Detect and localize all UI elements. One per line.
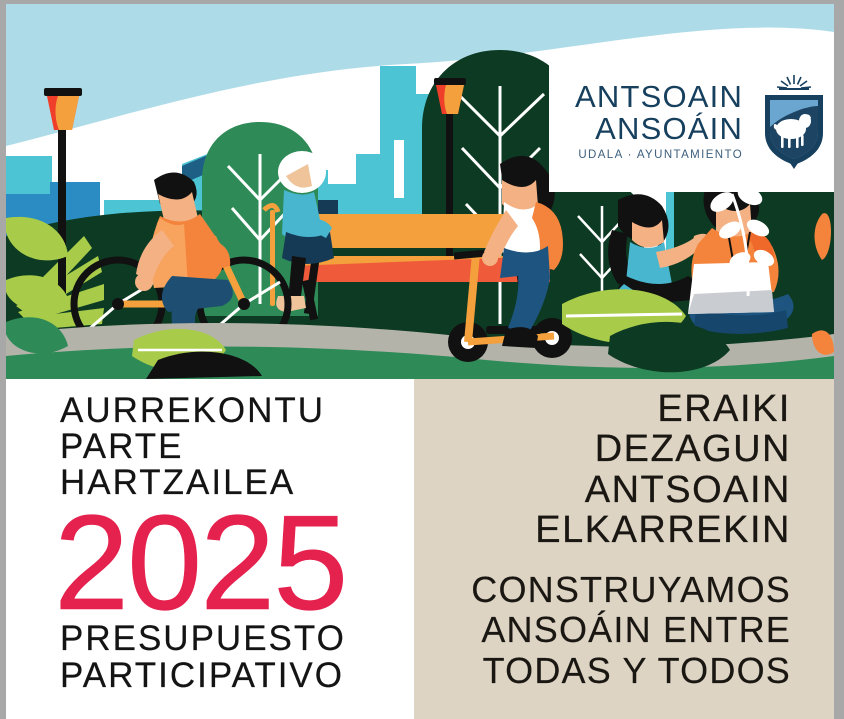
slogan-basque-line-3: ANTSOAIN — [431, 470, 791, 510]
year-2025: 2025 — [54, 509, 400, 617]
bottom-text-area: AURREKONTU PARTE HARTZAILEA 2025 PRESUPU… — [6, 379, 834, 719]
logo-wordmark: ANTSOAIN ANSOÁIN UDALA · AYUNTAMIENTO — [575, 81, 743, 161]
poster-root: ANTSOAIN ANSOÁIN UDALA · AYUNTAMIENTO — [0, 0, 844, 719]
logo-subtitle: UDALA · AYUNTAMIENTO — [578, 149, 743, 161]
antsoain-coat-of-arms-icon — [757, 73, 831, 169]
heading-spanish-line-2: PARTICIPATIVO — [60, 658, 400, 695]
slogan-spanish-line-1: CONSTRUYAMOS — [431, 570, 791, 610]
heading-basque-line-2: PARTE — [60, 429, 400, 465]
municipality-logo-panel: ANTSOAIN ANSOÁIN UDALA · AYUNTAMIENTO — [549, 50, 840, 192]
logo-name-spanish: ANSOÁIN — [595, 113, 743, 145]
logo-name-basque: ANTSOAIN — [575, 81, 743, 113]
slogan-spanish-line-2: ANSOÁIN ENTRE — [431, 610, 791, 650]
heading-spanish-line-1: PRESUPUESTO — [60, 621, 400, 658]
slogan-basque-line-1: ERAIKI — [431, 389, 791, 429]
sunburst-icon — [777, 75, 811, 88]
left-text-panel: AURREKONTU PARTE HARTZAILEA 2025 PRESUPU… — [6, 379, 414, 719]
slogan-basque-line-2: DEZAGUN — [431, 429, 791, 469]
slogan-basque-line-4: ELKARREKIN — [431, 510, 791, 550]
right-text-panel: ERAIKI DEZAGUN ANTSOAIN ELKARREKIN CONST… — [414, 379, 834, 719]
walking-cane — [270, 210, 275, 306]
laptop — [688, 262, 774, 314]
heading-basque-line-1: AURREKONTU — [60, 393, 400, 429]
slogan-spanish-line-3: TODAS Y TODOS — [431, 651, 791, 691]
